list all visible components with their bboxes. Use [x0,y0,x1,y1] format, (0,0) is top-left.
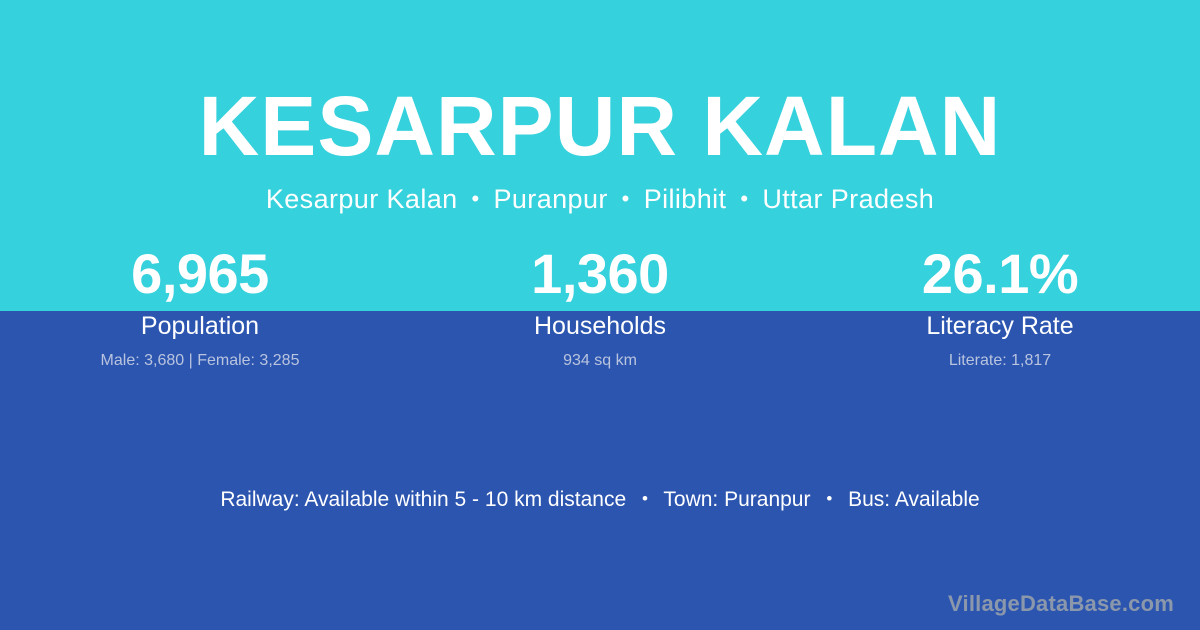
breadcrumb-separator: • [465,186,485,211]
stat-subtext: Male: 3,680 | Female: 3,285 [0,350,400,372]
breadcrumb-separator: • [734,186,754,211]
stat-label: Population [0,311,400,341]
stat-population: 6,965 Population Male: 3,680 | Female: 3… [0,243,400,393]
village-info-card: KESARPUR KALAN Kesarpur Kalan • Puranpur… [0,0,1200,630]
breadcrumb: Kesarpur Kalan • Puranpur • Pilibhit • U… [0,182,1200,218]
breadcrumb-item-state: Uttar Pradesh [762,184,934,214]
stat-label: Literacy Rate [800,311,1200,341]
stat-literacy-rate: 26.1% Literacy Rate Literate: 1,817 [800,243,1200,393]
stat-households: 1,360 Households 934 sq km [400,243,800,393]
stat-value: 26.1% [800,243,1200,305]
amenities-summary: Railway: Available within 5 - 10 km dist… [0,485,1200,516]
fact-town: Town: Puranpur [663,488,810,511]
stat-subtext: 934 sq km [400,350,800,372]
breadcrumb-separator: • [616,186,636,211]
site-watermark: VillageDataBase.com [948,590,1174,618]
stat-value: 6,965 [0,243,400,305]
fact-separator: • [632,489,658,508]
page-title: KESARPUR KALAN [0,78,1200,174]
fact-separator: • [816,489,842,508]
breadcrumb-item-village: Kesarpur Kalan [266,184,458,214]
breadcrumb-item-block: Puranpur [493,184,607,214]
stats-row: 6,965 Population Male: 3,680 | Female: 3… [0,243,1200,393]
stat-label: Households [400,311,800,341]
stat-value: 1,360 [400,243,800,305]
fact-bus: Bus: Available [848,488,980,511]
stat-subtext: Literate: 1,817 [800,350,1200,372]
fact-railway: Railway: Available within 5 - 10 km dist… [220,488,626,511]
breadcrumb-item-district: Pilibhit [644,184,727,214]
